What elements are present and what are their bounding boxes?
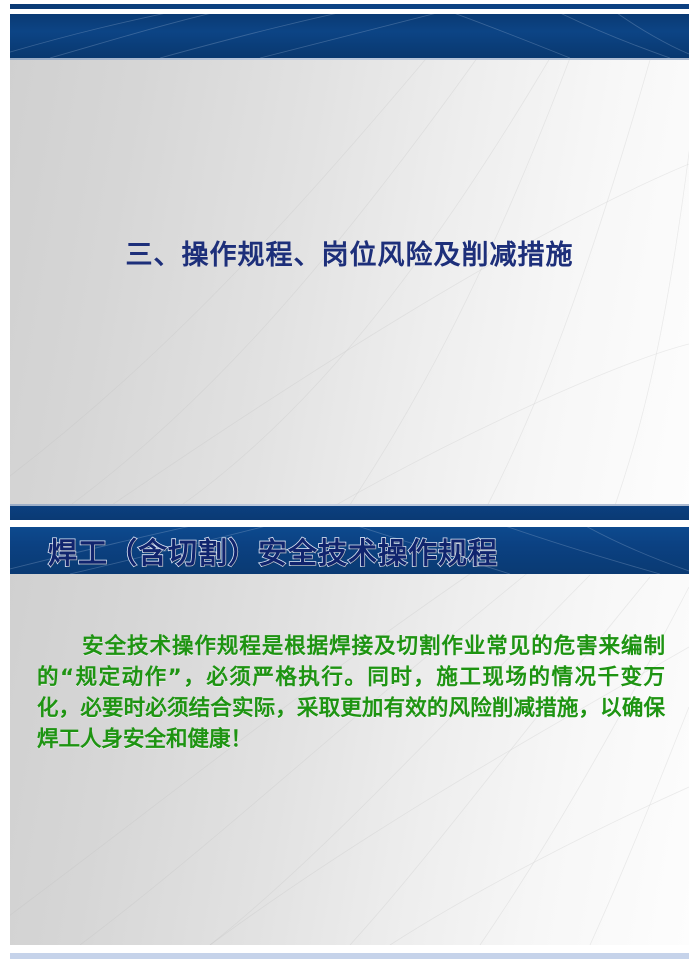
slide-viewer: 三、操作规程、岗位风险及削减措施 焊工（含切割）安全技术操作规程 — [0, 0, 700, 959]
next-slide-strip[interactable] — [10, 953, 689, 959]
slide1-title: 三、操作规程、岗位风险及削减措施 — [10, 233, 689, 272]
slide-content-section[interactable]: 焊工（含切割）安全技术操作规程 安全技术操作规程是根据焊接及切割作业常见的危害来… — [10, 527, 689, 945]
slide2-paragraph: 安全技术操作规程是根据焊接及切割作业常见的危害来编制的“规定动作”，必须严格执行… — [37, 631, 665, 755]
slide2-body: 安全技术操作规程是根据焊接及切割作业常见的危害来编制的“规定动作”，必须严格执行… — [10, 574, 689, 945]
header-band-arc-pattern — [10, 14, 689, 58]
slide1-header-band — [10, 14, 689, 58]
previous-slide-strip[interactable] — [10, 4, 689, 9]
slide2-banner-title: 焊工（含切割）安全技术操作规程 — [48, 530, 498, 572]
slide-title-section[interactable]: 三、操作规程、岗位风险及削减措施 — [10, 14, 689, 520]
slide2-title-banner: 焊工（含切割）安全技术操作规程 — [10, 527, 689, 574]
slide1-footer-band — [10, 506, 689, 520]
slide1-header-divider — [10, 58, 689, 60]
